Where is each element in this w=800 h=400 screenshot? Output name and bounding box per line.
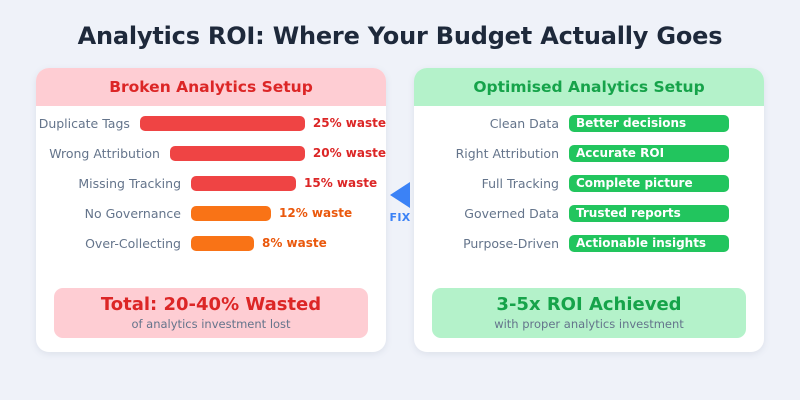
fix-label: FIX xyxy=(380,211,420,224)
fix-indicator: FIX xyxy=(380,182,420,224)
optimised-summary-box: 3-5x ROI Achieved with proper analytics … xyxy=(432,288,746,338)
broken-card-header: Broken Analytics Setup xyxy=(36,68,386,106)
bar-value-label: 20% waste xyxy=(313,146,386,160)
benefit-row: Purpose-Driven Actionable insights xyxy=(414,228,764,258)
bar-value-label: 15% waste xyxy=(304,176,377,190)
bar-row-label: Missing Tracking xyxy=(36,176,191,191)
bar-value-label: 12% waste xyxy=(279,206,352,220)
bar-track: 12% waste xyxy=(191,206,386,221)
benefit-row: Right Attribution Accurate ROI xyxy=(414,138,764,168)
benefit-pill: Complete picture xyxy=(569,175,729,192)
optimised-analytics-card: Optimised Analytics Setup Clean Data Bet… xyxy=(414,68,764,352)
bar-value-label: 8% waste xyxy=(262,236,327,250)
benefit-row: Governed Data Trusted reports xyxy=(414,198,764,228)
bar-row-label: Duplicate Tags xyxy=(36,116,140,131)
benefit-row-label: Full Tracking xyxy=(414,176,569,191)
optimised-card-header: Optimised Analytics Setup xyxy=(414,68,764,106)
bar-row: Wrong Attribution 20% waste xyxy=(36,138,386,168)
bar-track: 15% waste xyxy=(191,176,386,191)
bar-track: 8% waste xyxy=(191,236,386,251)
bar-row: No Governance 12% waste xyxy=(36,198,386,228)
optimised-summary-sub: with proper analytics investment xyxy=(494,317,684,331)
bar-fill xyxy=(170,146,305,161)
benefit-row: Full Tracking Complete picture xyxy=(414,168,764,198)
bar-fill xyxy=(191,206,271,221)
bar-track: 25% waste xyxy=(140,116,386,131)
benefit-pill: Better decisions xyxy=(569,115,729,132)
optimised-summary-main: 3-5x ROI Achieved xyxy=(496,295,681,315)
broken-summary-box: Total: 20-40% Wasted of analytics invest… xyxy=(54,288,368,338)
bar-row-label: Over-Collecting xyxy=(36,236,191,251)
bar-row: Over-Collecting 8% waste xyxy=(36,228,386,258)
benefit-pill: Actionable insights xyxy=(569,235,729,252)
bar-row: Missing Tracking 15% waste xyxy=(36,168,386,198)
benefit-pill: Accurate ROI xyxy=(569,145,729,162)
arrow-left-icon xyxy=(390,182,410,208)
bar-row-label: Wrong Attribution xyxy=(36,146,170,161)
broken-summary-main: Total: 20-40% Wasted xyxy=(101,295,321,315)
benefit-row-label: Clean Data xyxy=(414,116,569,131)
broken-summary-sub: of analytics investment lost xyxy=(131,317,290,331)
benefit-row-label: Purpose-Driven xyxy=(414,236,569,251)
broken-card-body: Duplicate Tags 25% waste Wrong Attributi… xyxy=(36,106,386,352)
bar-fill xyxy=(191,236,254,251)
bar-fill xyxy=(191,176,296,191)
benefit-row-label: Right Attribution xyxy=(414,146,569,161)
broken-analytics-card: Broken Analytics Setup Duplicate Tags 25… xyxy=(36,68,386,352)
page-title: Analytics ROI: Where Your Budget Actuall… xyxy=(0,22,800,50)
bar-track: 20% waste xyxy=(170,146,386,161)
bar-fill xyxy=(140,116,305,131)
bar-row: Duplicate Tags 25% waste xyxy=(36,108,386,138)
benefit-pill: Trusted reports xyxy=(569,205,729,222)
bar-value-label: 25% waste xyxy=(313,116,386,130)
optimised-card-body: Clean Data Better decisions Right Attrib… xyxy=(414,106,764,352)
bar-row-label: No Governance xyxy=(36,206,191,221)
benefit-row: Clean Data Better decisions xyxy=(414,108,764,138)
benefit-row-label: Governed Data xyxy=(414,206,569,221)
